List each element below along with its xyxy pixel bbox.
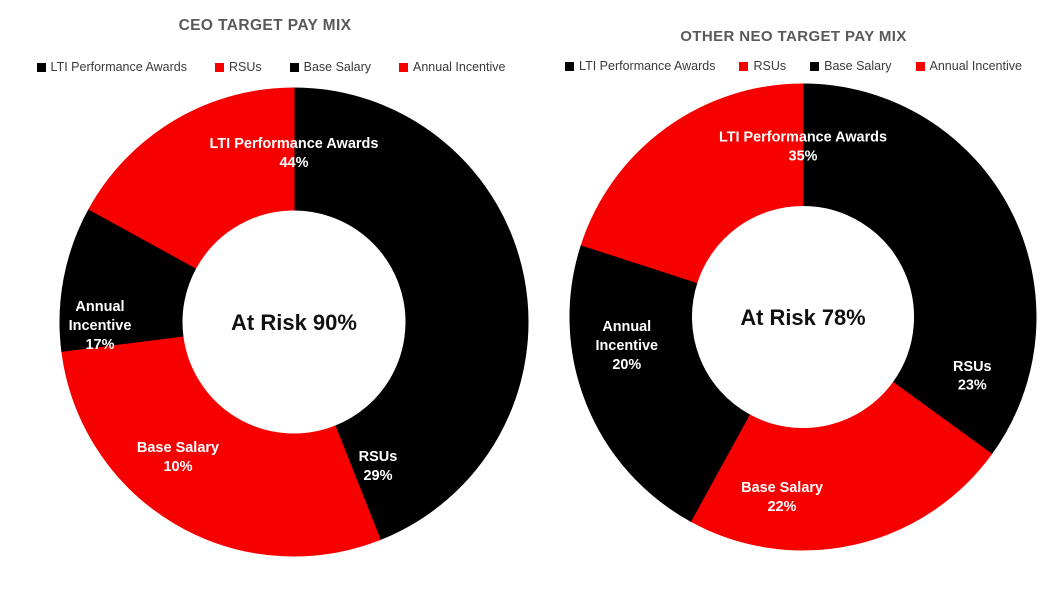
legend-item-label: Annual Incentive xyxy=(930,60,1022,73)
legend-swatch-square-icon xyxy=(399,63,408,72)
legend-item-label: Annual Incentive xyxy=(413,61,505,74)
slice-label-value: 10% xyxy=(163,459,192,475)
slice-label-value: 35% xyxy=(789,149,818,165)
slice-label-value: 20% xyxy=(612,357,641,373)
legend-swatch-square-icon xyxy=(739,62,748,71)
legend-item-lti-performance-awards[interactable]: LTI Performance Awards xyxy=(37,61,187,74)
legend-item-lti-performance-awards[interactable]: LTI Performance Awards xyxy=(565,60,715,73)
slice-label-name: RSUs xyxy=(953,359,991,375)
legend-swatch-square-icon xyxy=(810,62,819,71)
legend-item-annual-incentive[interactable]: Annual Incentive xyxy=(916,60,1022,73)
donut-slice[interactable] xyxy=(581,84,803,283)
slice-label-name: Annual xyxy=(602,319,651,335)
slice-label-name: Incentive xyxy=(69,318,132,334)
legend-swatch-square-icon xyxy=(215,63,224,72)
legend-item-label: Base Salary xyxy=(824,60,891,73)
legend-item-base-salary[interactable]: Base Salary xyxy=(290,61,371,74)
legend-ceo: LTI Performance Awards RSUs Base Salary … xyxy=(0,61,536,74)
slice-label-name: Base Salary xyxy=(741,480,823,496)
legend-item-base-salary[interactable]: Base Salary xyxy=(810,60,891,73)
donut-svg-ceo: LTI Performance Awards44%RSUs29%Base Sal… xyxy=(58,86,530,558)
page-title-neo: OTHER NEO TARGET PAY MIX xyxy=(530,28,1057,45)
legend-swatch-square-icon xyxy=(37,63,46,72)
legend-item-annual-incentive[interactable]: Annual Incentive xyxy=(399,61,505,74)
legend-neo: LTI Performance Awards RSUs Base Salary … xyxy=(530,60,1057,73)
legend-item-label: LTI Performance Awards xyxy=(579,60,715,73)
legend-item-rsus[interactable]: RSUs xyxy=(215,61,262,74)
slice-label-value: 44% xyxy=(279,155,308,171)
slice-label-name: Annual xyxy=(75,299,124,315)
chart-panel-neo: OTHER NEO TARGET PAY MIX LTI Performance… xyxy=(530,0,1057,594)
chart-panel-ceo: CEO TARGET PAY MIX LTI Performance Award… xyxy=(0,0,530,594)
slice-label-value: 23% xyxy=(958,378,987,394)
slice-label-name: Base Salary xyxy=(137,440,219,456)
slice-label-name: Incentive xyxy=(595,338,658,354)
legend-swatch-square-icon xyxy=(565,62,574,71)
legend-swatch-square-icon xyxy=(916,62,925,71)
donut-chart-ceo[interactable]: LTI Performance Awards44%RSUs29%Base Sal… xyxy=(58,86,530,558)
legend-swatch-square-icon xyxy=(290,63,299,72)
legend-item-rsus[interactable]: RSUs xyxy=(739,60,786,73)
donut-svg-neo: LTI Performance Awards35%RSUs23%Base Sal… xyxy=(568,82,1038,552)
center-label-ceo: At Risk 90% xyxy=(231,310,357,335)
slice-label-name: LTI Performance Awards xyxy=(719,130,887,146)
pay-mix-dashboard: CEO TARGET PAY MIX LTI Performance Award… xyxy=(0,0,1057,594)
donut-slice[interactable] xyxy=(62,336,380,556)
legend-item-label: RSUs xyxy=(753,60,786,73)
slice-label-value: 17% xyxy=(85,337,114,353)
slice-label-value: 29% xyxy=(363,468,392,484)
slice-label-name: LTI Performance Awards xyxy=(210,136,379,152)
legend-item-label: Base Salary xyxy=(304,61,371,74)
donut-chart-neo[interactable]: LTI Performance Awards35%RSUs23%Base Sal… xyxy=(568,82,1038,552)
slice-label-name: RSUs xyxy=(359,449,398,465)
legend-item-label: LTI Performance Awards xyxy=(51,61,187,74)
center-label-neo: At Risk 78% xyxy=(740,305,865,330)
slice-label-value: 22% xyxy=(768,499,797,515)
page-title-ceo: CEO TARGET PAY MIX xyxy=(0,17,530,35)
legend-item-label: RSUs xyxy=(229,61,262,74)
